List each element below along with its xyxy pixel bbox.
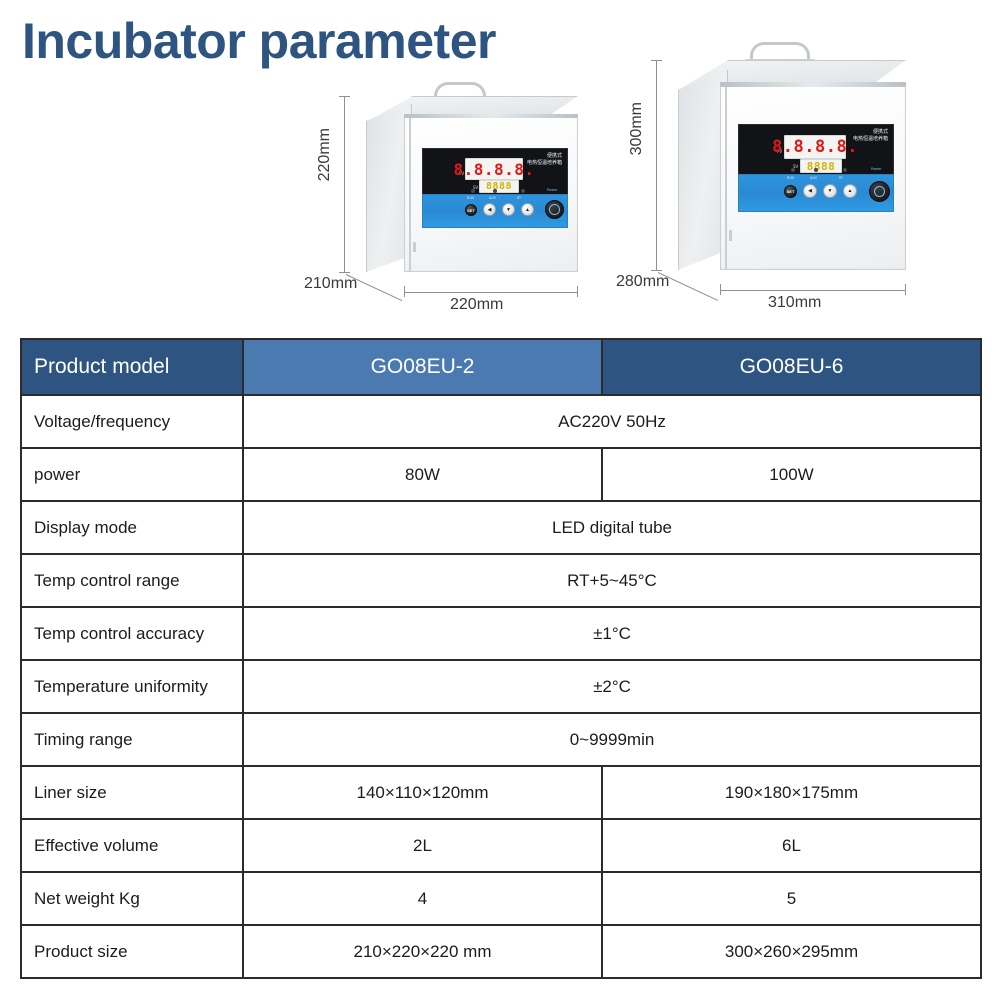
dim-label-height: 220mm (316, 128, 334, 181)
row-value-merged: 0~9999min (243, 713, 981, 766)
control-panel-bezel: 便携式 电热恒温培养箱 PV 8.8.8.8. SV 8888 Power (738, 124, 894, 176)
led-label-rt: RT (517, 196, 521, 200)
power-label: Power (871, 167, 882, 171)
led-label-run: RUN (787, 176, 794, 180)
indicator-led-run (791, 168, 795, 172)
row-value-model-a: 2L (243, 819, 602, 872)
indicator-led-run (471, 189, 475, 193)
header-model-a: GO08EU-2 (243, 339, 602, 395)
row-value-merged: AC220V 50Hz (243, 395, 981, 448)
row-value-model-b: 5 (602, 872, 981, 925)
table-header-row: Product model GO08EU-2 GO08EU-6 (21, 339, 981, 395)
up-button[interactable]: ▲ (843, 184, 857, 198)
indicator-led-rt (843, 168, 847, 172)
dim-tick-left (404, 286, 405, 297)
dim-label-height: 300mm (628, 102, 646, 155)
dim-tick-bottom (339, 272, 350, 273)
dim-label-depth: 210mm (304, 275, 357, 293)
incubator-small-body: 便携式 电热恒温培养箱 PV 8.8.8.8. SV 8888 Power RU… (360, 90, 600, 290)
set-button[interactable]: SET (465, 204, 477, 216)
led-label-rt: RT (839, 176, 843, 180)
dim-tick-left (720, 284, 721, 295)
product-spec-page: Incubator parameter 便携式 电热恒温培养箱 (0, 0, 1000, 1000)
product-image-go08eu-6: 便携式 电热恒温培养箱 PV 8.8.8.8. SV 8888 Power RU… (672, 52, 922, 292)
table-row: Temp control accuracy±1°C (21, 607, 981, 660)
door-latch (413, 242, 416, 252)
dim-tick-bottom (651, 270, 662, 271)
row-value-model-a: 80W (243, 448, 602, 501)
row-label: Temperature uniformity (21, 660, 243, 713)
row-value-merged: ±2°C (243, 660, 981, 713)
row-label: Effective volume (21, 819, 243, 872)
dim-label-depth: 280mm (616, 273, 669, 291)
left-button[interactable]: ◀ (803, 184, 817, 198)
dim-line-width (404, 292, 578, 293)
row-label: Temp control accuracy (21, 607, 243, 660)
dim-line-height (656, 60, 657, 270)
left-button[interactable]: ◀ (483, 203, 496, 216)
door-seam (409, 118, 411, 272)
down-button[interactable]: ▼ (823, 184, 837, 198)
product-image-go08eu-2: 便携式 电热恒温培养箱 PV 8.8.8.8. SV 8888 Power RU… (360, 90, 600, 290)
row-label: power (21, 448, 243, 501)
table-row: Liner size140×110×120mm190×180×175mm (21, 766, 981, 819)
dim-tick-top (339, 96, 350, 97)
table-row: Display modeLED digital tube (21, 501, 981, 554)
incubator-large-body: 便携式 电热恒温培养箱 PV 8.8.8.8. SV 8888 Power RU… (672, 52, 922, 292)
dim-line-height (344, 96, 345, 272)
control-panel-bezel: 便携式 电热恒温培养箱 PV 8.8.8.8. SV 8888 Power (422, 148, 568, 196)
control-button-strip: RUN ALM RT SET ◀ ▼ ▲ (422, 194, 568, 228)
indicator-led-alm (814, 168, 818, 172)
power-knob[interactable] (545, 200, 564, 219)
row-label: Temp control range (21, 554, 243, 607)
pv-display: 8.8.8.8. (465, 158, 523, 180)
power-label: Power (547, 188, 558, 192)
page-title: Incubator parameter (22, 10, 496, 72)
row-label: Voltage/frequency (21, 395, 243, 448)
down-button[interactable]: ▼ (502, 203, 515, 216)
hinge-bar (404, 114, 578, 118)
row-value-merged: RT+5~45°C (243, 554, 981, 607)
door-latch (729, 230, 732, 241)
led-label-alm: ALM (489, 196, 496, 200)
sv-display: 8888 (479, 180, 519, 193)
row-label: Timing range (21, 713, 243, 766)
table-row: Product size210×220×220 mm300×260×295mm (21, 925, 981, 978)
dim-label-width: 310mm (768, 294, 821, 312)
row-value-model-b: 6L (602, 819, 981, 872)
row-value-merged: ±1°C (243, 607, 981, 660)
led-label-alm: ALM (810, 176, 817, 180)
table-row: Effective volume2L6L (21, 819, 981, 872)
table-row: power80W100W (21, 448, 981, 501)
pv-display: 8.8.8.8. (784, 135, 846, 159)
row-value-merged: LED digital tube (243, 501, 981, 554)
indicator-led-rt (521, 189, 525, 193)
led-label-run: RUN (467, 196, 474, 200)
row-label: Product size (21, 925, 243, 978)
header-model-b: GO08EU-6 (602, 339, 981, 395)
row-value-model-a: 140×110×120mm (243, 766, 602, 819)
brand-chinese-text: 便携式 电热恒温培养箱 (853, 129, 888, 142)
table-row: Timing range0~9999min (21, 713, 981, 766)
table-row: Net weight Kg45 (21, 872, 981, 925)
header-product-model: Product model (21, 339, 243, 395)
specification-table: Product model GO08EU-2 GO08EU-6 Voltage/… (20, 338, 982, 979)
dim-tick-top (651, 60, 662, 61)
row-label: Display mode (21, 501, 243, 554)
indicator-led-alm (493, 189, 497, 193)
table-row: Temperature uniformity±2°C (21, 660, 981, 713)
row-label: Liner size (21, 766, 243, 819)
row-value-model-b: 190×180×175mm (602, 766, 981, 819)
door-seam (725, 87, 727, 270)
up-button[interactable]: ▲ (521, 203, 534, 216)
dim-tick-right (905, 284, 906, 295)
row-label: Net weight Kg (21, 872, 243, 925)
power-knob[interactable] (869, 181, 890, 202)
table-row: Temp control rangeRT+5~45°C (21, 554, 981, 607)
row-value-model-a: 4 (243, 872, 602, 925)
row-value-model-b: 300×260×295mm (602, 925, 981, 978)
control-button-strip: RUN ALM RT SET ◀ ▼ ▲ (738, 174, 894, 212)
dim-line-width (720, 290, 906, 291)
table-body: Voltage/frequencyAC220V 50Hzpower80W100W… (21, 395, 981, 978)
set-button[interactable]: SET (784, 185, 797, 198)
row-value-model-a: 210×220×220 mm (243, 925, 602, 978)
row-value-model-b: 100W (602, 448, 981, 501)
dim-label-width: 220mm (450, 296, 503, 314)
sv-display: 8888 (800, 159, 842, 173)
dim-tick-right (577, 286, 578, 297)
table-row: Voltage/frequencyAC220V 50Hz (21, 395, 981, 448)
hinge-bar (720, 82, 906, 87)
